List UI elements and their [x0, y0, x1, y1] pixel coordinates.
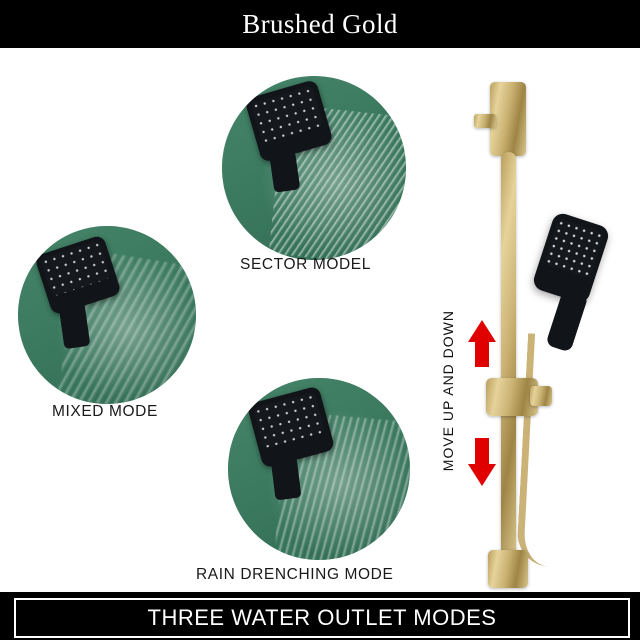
- shower-hose: [516, 333, 561, 566]
- handheld-shower-grip: [545, 287, 588, 352]
- shower-handle-rain: [271, 456, 302, 501]
- caption-mixed: MIXED MODE: [52, 403, 158, 421]
- page-title: Brushed Gold: [242, 9, 398, 40]
- handheld-nozzle-face: [544, 218, 605, 279]
- rail-bottom-bracket: [488, 550, 528, 588]
- mode-photo-rain: [228, 378, 410, 560]
- bottom-banner-frame: THREE WATER OUTLET MODES: [14, 598, 630, 638]
- move-up-and-down-label: MOVE UP AND DOWN: [440, 310, 456, 471]
- shower-handle-sector: [269, 150, 300, 193]
- arrow-down-stem: [475, 438, 489, 464]
- caption-rain: RAIN DRENCHING MODE: [196, 566, 393, 584]
- rail-top-bracket-arm: [474, 114, 496, 128]
- nozzle-face-rain: [253, 391, 325, 448]
- arrow-up-stem: [475, 341, 489, 367]
- rail-slider-knob: [530, 386, 552, 406]
- top-title-bar: Brushed Gold: [0, 0, 640, 48]
- mode-photo-mixed: [18, 226, 196, 404]
- slide-rail-assembly: MOVE UP AND DOWN: [430, 48, 640, 592]
- arrow-down-icon: [468, 464, 496, 486]
- caption-sector: SECTOR MODEL: [240, 256, 371, 274]
- bottom-banner-text: THREE WATER OUTLET MODES: [148, 605, 497, 631]
- product-image-stage: SECTOR MODEL MIXED MODE RAIN DRENCHING M…: [0, 48, 640, 592]
- mode-photo-sector: [222, 76, 406, 260]
- nozzle-face-sector: [251, 85, 324, 143]
- arrow-up-icon: [468, 320, 496, 342]
- rail-bar: [501, 152, 516, 560]
